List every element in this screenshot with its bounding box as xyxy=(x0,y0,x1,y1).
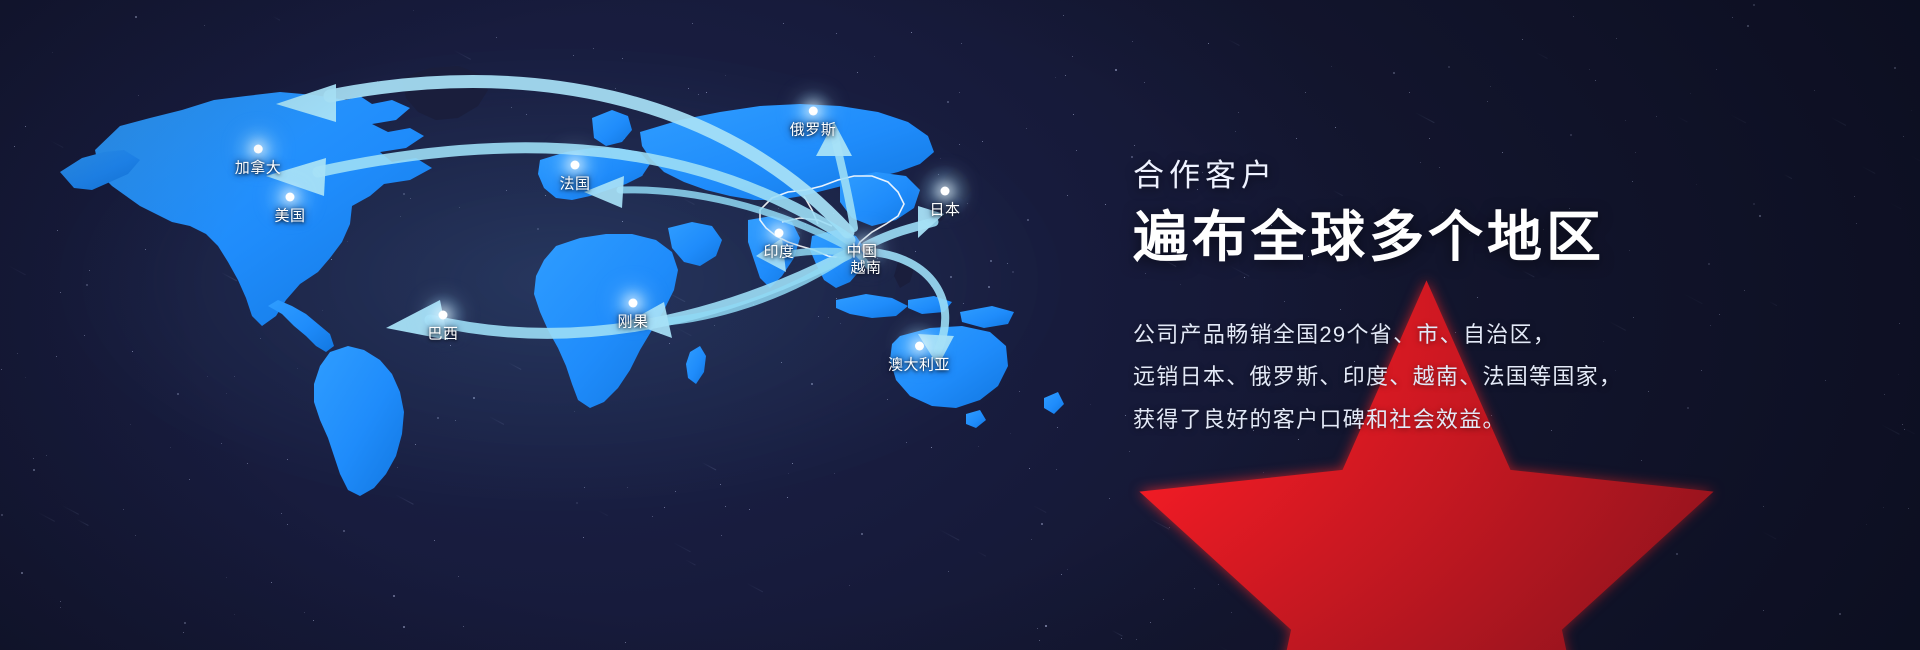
marker-dot-icon xyxy=(285,193,294,202)
banner-eyebrow: 合作客户 xyxy=(1133,160,1833,191)
description-line-3: 获得了良好的客户口碑和社会效益。 xyxy=(1133,399,1833,442)
map-marker-label: 加拿大 xyxy=(235,161,282,176)
description-line-2: 远销日本、俄罗斯、印度、越南、法国等国家， xyxy=(1133,356,1833,399)
marker-dot-icon xyxy=(570,161,579,170)
description-line-1: 公司产品畅销全国29个省、市、自治区， xyxy=(1133,314,1833,357)
marker-dot-icon xyxy=(774,229,783,238)
map-marker-label: 刚果 xyxy=(617,315,648,330)
map-marker-china-origin[interactable]: 中国 xyxy=(846,237,877,259)
map-marker-label: 美国 xyxy=(274,209,305,224)
map-marker-brazil[interactable]: 巴西 xyxy=(427,311,458,342)
map-marker-label: 印度 xyxy=(763,245,794,260)
marker-dot-icon xyxy=(438,311,447,320)
map-marker-label: 巴西 xyxy=(427,327,458,342)
banner-description: 公司产品畅销全国29个省、市、自治区， 远销日本、俄罗斯、印度、越南、法国等国家… xyxy=(1133,314,1833,443)
map-marker-label: 日本 xyxy=(929,203,960,218)
global-partners-banner: 加拿大 美国 巴西 法国 刚果 俄罗斯 印度 越南 xyxy=(0,0,1920,650)
map-marker-label: 法国 xyxy=(559,177,590,192)
map-marker-india[interactable]: 印度 xyxy=(763,229,794,260)
marker-dot-icon xyxy=(628,299,637,308)
marker-dot-icon xyxy=(940,187,949,196)
map-marker-france[interactable]: 法国 xyxy=(559,161,590,192)
banner-copy: 合作客户 遍布全球多个地区 公司产品畅销全国29个省、市、自治区， 远销日本、俄… xyxy=(1133,160,1833,442)
map-marker-usa[interactable]: 美国 xyxy=(274,193,305,224)
map-marker-label: 俄罗斯 xyxy=(790,123,837,138)
marker-dot-icon xyxy=(253,145,262,154)
banner-headline: 遍布全球多个地区 xyxy=(1133,207,1833,268)
map-marker-russia[interactable]: 俄罗斯 xyxy=(790,107,837,138)
map-marker-congo[interactable]: 刚果 xyxy=(617,299,648,330)
map-marker-japan[interactable]: 日本 xyxy=(929,187,960,218)
map-marker-canada[interactable]: 加拿大 xyxy=(235,145,282,176)
world-map: 加拿大 美国 巴西 法国 刚果 俄罗斯 印度 越南 xyxy=(0,0,1160,650)
marker-dot-icon xyxy=(808,107,817,116)
